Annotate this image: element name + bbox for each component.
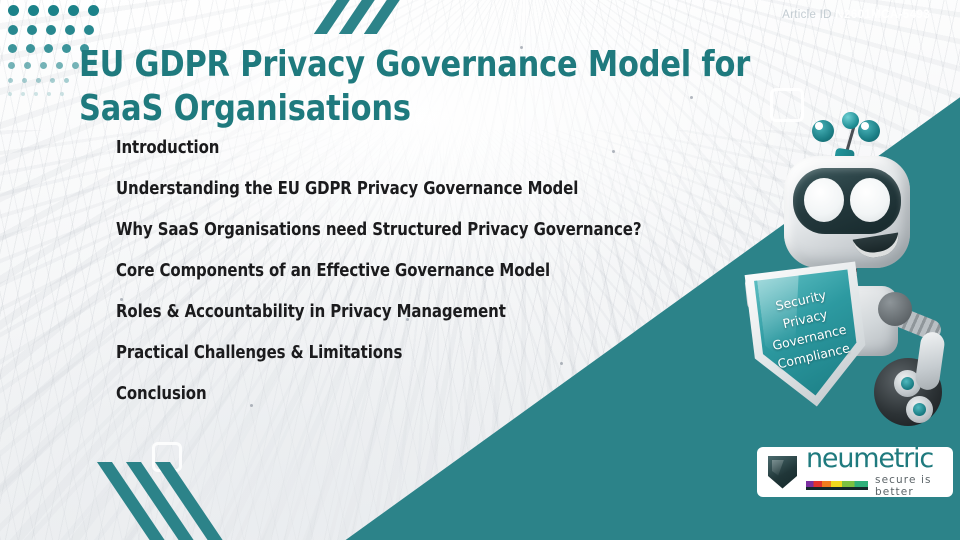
robot-eye-glint-right bbox=[861, 122, 869, 130]
neumetric-shield-icon bbox=[768, 456, 797, 489]
page-title: EU GDPR Privacy Governance Model for Saa… bbox=[79, 43, 831, 131]
logo-text-block: neumetric secure is better bbox=[806, 446, 942, 498]
agenda-item: Conclusion bbox=[116, 386, 724, 404]
agenda-item: Practical Challenges & Limitations bbox=[116, 345, 724, 363]
robot-eye-glint-left bbox=[815, 122, 823, 130]
robot-wheel-core-icon bbox=[913, 403, 926, 416]
article-id: Article ID N2601MCA-5493 bbox=[782, 9, 930, 21]
agenda-list: Introduction Understanding the EU GDPR P… bbox=[116, 140, 756, 427]
agenda-item: Why SaaS Organisations need Structured P… bbox=[116, 222, 724, 240]
robot-eye-left bbox=[804, 178, 844, 222]
neumetric-logo[interactable]: neumetric secure is better bbox=[757, 447, 953, 497]
article-id-value: N2601MCA-5493 bbox=[835, 9, 930, 21]
article-id-label: Article ID bbox=[782, 9, 832, 21]
logo-subline: secure is better bbox=[806, 474, 942, 498]
security-shield-icon: Security Privacy Governance Compliance bbox=[742, 255, 875, 413]
agenda-item: Core Components of an Effective Governan… bbox=[116, 263, 724, 281]
robot-shoulder-joint bbox=[878, 292, 912, 326]
agenda-item: Understanding the EU GDPR Privacy Govern… bbox=[116, 181, 724, 199]
robot-forearm bbox=[914, 331, 946, 392]
logo-wordmark: neumetric bbox=[806, 446, 942, 472]
logo-tagline: secure is better bbox=[875, 474, 942, 498]
agenda-item: Roles & Accountability in Privacy Manage… bbox=[116, 304, 724, 322]
logo-rainbow-bar-icon bbox=[806, 481, 868, 490]
agenda-item: Introduction bbox=[116, 140, 724, 158]
robot-antenna-ball-icon bbox=[842, 112, 859, 129]
robot-wheel-core-icon bbox=[901, 377, 914, 390]
presentation-slide: Article ID N2601MCA-5493 EU GDPR Privacy… bbox=[0, 0, 960, 540]
robot-eye-right bbox=[850, 178, 890, 222]
